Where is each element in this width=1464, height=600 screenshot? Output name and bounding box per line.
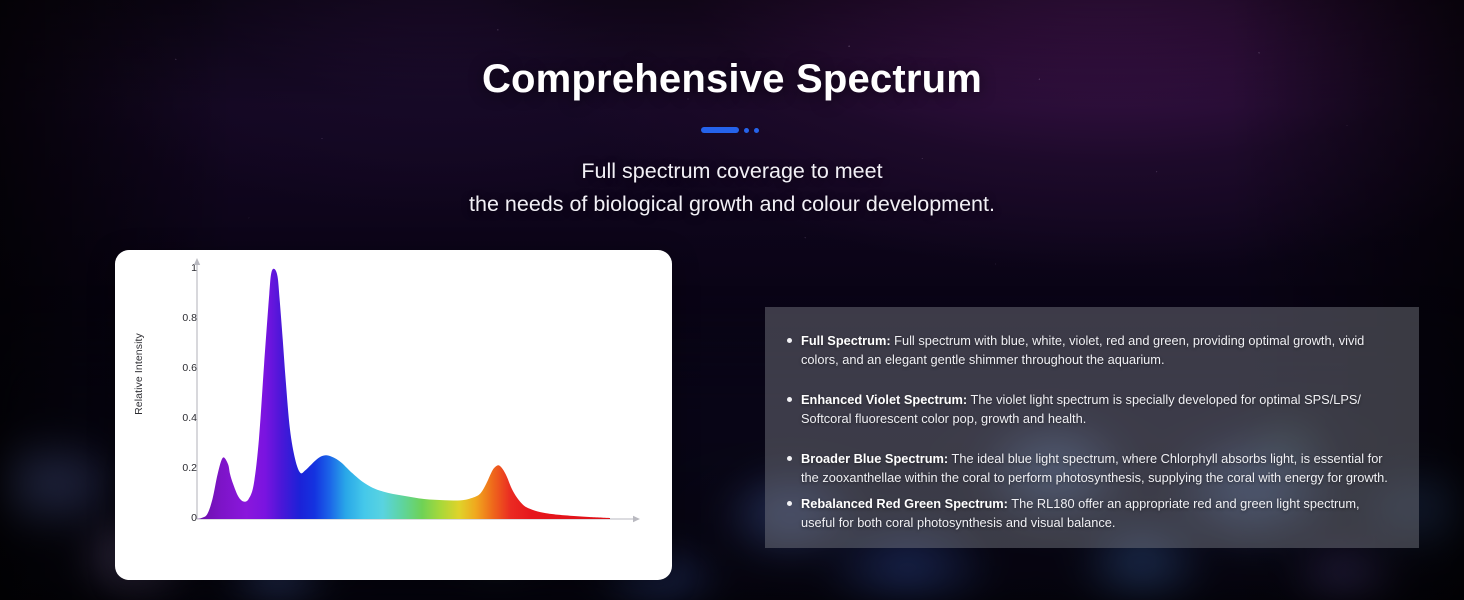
feature-item: Full Spectrum: Full spectrum with blue, …: [787, 331, 1397, 370]
bullet-icon: [787, 397, 792, 402]
feature-title: Rebalanced Red Green Spectrum:: [801, 496, 1008, 511]
x-axis-arrow: [633, 516, 640, 522]
bullet-icon: [787, 501, 792, 506]
feature-item: Rebalanced Red Green Spectrum: The RL180…: [787, 494, 1397, 533]
spectrum-curve-fill: [197, 269, 610, 519]
bullet-icon: [787, 456, 792, 461]
divider-dot-1: [744, 128, 749, 133]
feature-item: Enhanced Violet Spectrum: The violet lig…: [787, 390, 1397, 429]
features-panel: Full Spectrum: Full spectrum with blue, …: [765, 307, 1419, 548]
feature-text: Rebalanced Red Green Spectrum: The RL180…: [801, 494, 1397, 533]
divider-dot-2: [754, 128, 759, 133]
spectrum-chart: Relative Intensity 00.20.40.60.81 380430…: [115, 250, 672, 580]
feature-title: Full Spectrum:: [801, 333, 891, 348]
spectrum-chart-card: Relative Intensity 00.20.40.60.81 380430…: [115, 250, 672, 580]
divider-bar: [701, 127, 739, 133]
subtitle-line-1: Full spectrum coverage to meet: [0, 155, 1464, 188]
feature-text: Full Spectrum: Full spectrum with blue, …: [801, 331, 1397, 370]
spectrum-plot-svg: [115, 250, 672, 580]
header-section: Comprehensive Spectrum Full spectrum cov…: [0, 56, 1464, 220]
feature-title: Broader Blue Spectrum:: [801, 451, 948, 466]
page-subtitle: Full spectrum coverage to meet the needs…: [0, 155, 1464, 220]
divider-decoration: [701, 126, 763, 134]
feature-title: Enhanced Violet Spectrum:: [801, 392, 967, 407]
page-title: Comprehensive Spectrum: [0, 56, 1464, 102]
feature-text: Enhanced Violet Spectrum: The violet lig…: [801, 390, 1397, 429]
subtitle-line-2: the needs of biological growth and colou…: [0, 188, 1464, 221]
feature-item: Broader Blue Spectrum: The ideal blue li…: [787, 449, 1397, 488]
bullet-icon: [787, 338, 792, 343]
y-axis-arrow: [194, 258, 200, 265]
feature-text: Broader Blue Spectrum: The ideal blue li…: [801, 449, 1397, 488]
